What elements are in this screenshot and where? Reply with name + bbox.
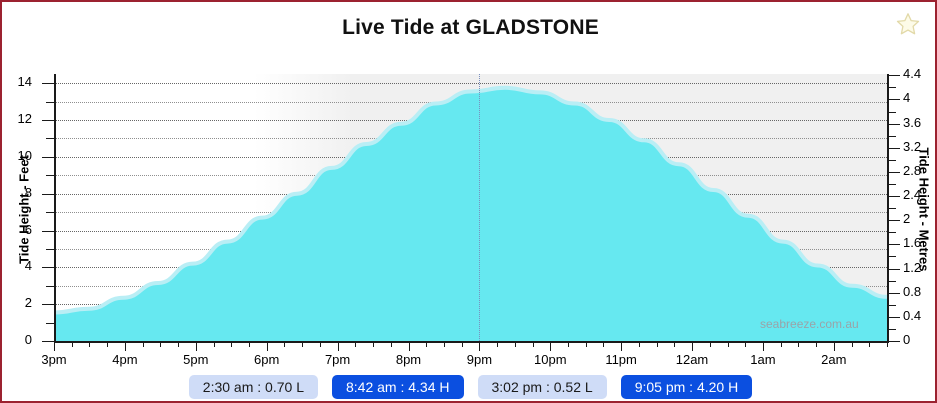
y-axis-left-line bbox=[54, 74, 56, 342]
x-axis-minor-tick bbox=[533, 342, 534, 347]
x-axis-minor-tick bbox=[745, 342, 746, 347]
y-axis-right-label: 3.6 bbox=[903, 115, 921, 130]
y-axis-right-minor-tick bbox=[888, 112, 896, 113]
x-axis-tick bbox=[125, 342, 126, 351]
tide-events-bar: 2:30 am : 0.70 L8:42 am : 4.34 H3:02 pm … bbox=[2, 373, 937, 401]
y-axis-right-tick bbox=[888, 269, 900, 270]
x-axis-minor-tick bbox=[426, 342, 427, 347]
page-title: Live Tide at GLADSTONE bbox=[2, 16, 937, 40]
y-axis-left-tick bbox=[46, 249, 54, 250]
x-axis-label: 9pm bbox=[467, 352, 492, 367]
y-axis-right-tick bbox=[888, 220, 900, 221]
x-axis-minor-tick bbox=[249, 342, 250, 347]
x-axis-label: 12am bbox=[676, 352, 709, 367]
x-axis-label: 8pm bbox=[396, 352, 421, 367]
y-axis-right-title: Tide Height - Metres bbox=[917, 140, 932, 280]
watermark: seabreeze.com.au bbox=[760, 317, 859, 331]
y-axis-right-minor-tick bbox=[888, 281, 896, 282]
y-axis-left-label: 12 bbox=[18, 111, 32, 126]
x-axis-label: 2am bbox=[821, 352, 846, 367]
x-axis-tick bbox=[196, 342, 197, 351]
x-axis-label: 11pm bbox=[605, 352, 637, 367]
y-axis-right-label: 1.6 bbox=[903, 235, 921, 250]
y-axis-right-label: 0.8 bbox=[903, 284, 921, 299]
x-axis-label: 4pm bbox=[112, 352, 137, 367]
y-axis-right-tick bbox=[888, 317, 900, 318]
x-axis-tick bbox=[479, 342, 480, 351]
x-axis-minor-tick bbox=[798, 342, 799, 347]
y-axis-right-minor-tick bbox=[888, 87, 896, 88]
y-axis-right-tick bbox=[888, 124, 900, 125]
x-axis-minor-tick bbox=[302, 342, 303, 347]
y-axis-right-minor-tick bbox=[888, 232, 896, 233]
y-axis-right-minor-tick bbox=[888, 208, 896, 209]
y-axis-left-tick bbox=[42, 267, 54, 268]
x-axis-minor-tick bbox=[781, 342, 782, 347]
x-axis-minor-tick bbox=[462, 342, 463, 347]
y-axis-right-minor-tick bbox=[888, 136, 896, 137]
y-axis-right-tick bbox=[888, 99, 900, 100]
x-axis-minor-tick bbox=[214, 342, 215, 347]
tide-event-low[interactable]: 3:02 pm : 0.52 L bbox=[478, 375, 607, 399]
plot-area bbox=[54, 74, 887, 341]
y-axis-right-label: 2.8 bbox=[903, 163, 921, 178]
x-axis-label: 5pm bbox=[183, 352, 208, 367]
y-axis-right-label: 2.4 bbox=[903, 187, 921, 202]
y-axis-right-tick bbox=[888, 196, 900, 197]
x-axis-minor-tick bbox=[657, 342, 658, 347]
x-axis-minor-tick bbox=[710, 342, 711, 347]
y-axis-left-tick bbox=[46, 138, 54, 139]
y-axis-left-label: 10 bbox=[18, 148, 32, 163]
y-axis-right-label: 2 bbox=[903, 211, 910, 226]
y-axis-right-minor-tick bbox=[888, 184, 896, 185]
y-axis-left-tick bbox=[42, 120, 54, 121]
x-axis-tick bbox=[267, 342, 268, 351]
star-icon[interactable] bbox=[895, 11, 921, 37]
y-axis-right-label: 3.2 bbox=[903, 139, 921, 154]
y-axis-left-label: 0 bbox=[25, 332, 32, 347]
y-axis-right-tick bbox=[888, 293, 900, 294]
x-axis-minor-tick bbox=[603, 342, 604, 347]
y-axis-right-tick bbox=[888, 341, 900, 342]
y-axis-right-label: 1.2 bbox=[903, 260, 921, 275]
y-axis-right-label: 4.4 bbox=[903, 66, 921, 81]
y-axis-left-label: 4 bbox=[25, 258, 32, 273]
y-axis-left-tick bbox=[42, 83, 54, 84]
y-axis-right-label: 0.4 bbox=[903, 308, 921, 323]
x-axis-minor-tick bbox=[639, 342, 640, 347]
y-axis-right-minor-tick bbox=[888, 256, 896, 257]
y-axis-left-label: 14 bbox=[18, 74, 32, 89]
x-axis-minor-tick bbox=[143, 342, 144, 347]
x-axis-tick bbox=[54, 342, 55, 351]
x-axis-label: 3pm bbox=[41, 352, 66, 367]
x-axis-tick bbox=[550, 342, 551, 351]
y-axis-right-tick bbox=[888, 148, 900, 149]
x-axis-minor-tick bbox=[373, 342, 374, 347]
y-axis-right-tick bbox=[888, 172, 900, 173]
y-axis-right-label: 4 bbox=[903, 90, 910, 105]
x-axis-tick bbox=[409, 342, 410, 351]
x-axis-minor-tick bbox=[887, 342, 888, 347]
y-axis-left-tick bbox=[42, 304, 54, 305]
tide-event-low[interactable]: 2:30 am : 0.70 L bbox=[189, 375, 318, 399]
current-time-marker bbox=[54, 74, 887, 341]
y-axis-left-label: 6 bbox=[25, 222, 32, 237]
y-axis-left-tick bbox=[42, 231, 54, 232]
x-axis-minor-tick bbox=[586, 342, 587, 347]
x-axis-label: 1am bbox=[750, 352, 775, 367]
x-axis-tick bbox=[338, 342, 339, 351]
x-axis-minor-tick bbox=[320, 342, 321, 347]
y-axis-right-tick bbox=[888, 75, 900, 76]
y-axis-left-tick bbox=[46, 175, 54, 176]
x-axis-minor-tick bbox=[444, 342, 445, 347]
x-axis-minor-tick bbox=[869, 342, 870, 347]
y-axis-right-minor-tick bbox=[888, 329, 896, 330]
tide-event-high[interactable]: 9:05 pm : 4.20 H bbox=[621, 375, 753, 399]
x-axis-tick bbox=[763, 342, 764, 351]
x-axis-minor-tick bbox=[355, 342, 356, 347]
x-axis-minor-tick bbox=[72, 342, 73, 347]
x-axis-tick bbox=[834, 342, 835, 351]
x-axis-minor-tick bbox=[497, 342, 498, 347]
x-axis-label: 7pm bbox=[325, 352, 350, 367]
y-axis-left-label: 8 bbox=[25, 185, 32, 200]
y-axis-right-tick bbox=[888, 244, 900, 245]
y-axis-left-tick bbox=[46, 286, 54, 287]
y-axis-right-label: 0 bbox=[903, 332, 910, 347]
y-axis-left-tick bbox=[42, 194, 54, 195]
x-axis-tick bbox=[621, 342, 622, 351]
x-axis-tick bbox=[692, 342, 693, 351]
x-axis-label: 10pm bbox=[534, 352, 567, 367]
y-axis-left-tick bbox=[42, 157, 54, 158]
x-axis-minor-tick bbox=[284, 342, 285, 347]
x-axis-label: 6pm bbox=[254, 352, 279, 367]
x-axis-minor-tick bbox=[728, 342, 729, 347]
x-axis-minor-tick bbox=[160, 342, 161, 347]
y-axis-left-tick bbox=[46, 323, 54, 324]
y-axis-left-tick bbox=[42, 341, 54, 342]
y-axis-right-minor-tick bbox=[888, 305, 896, 306]
now-line bbox=[479, 74, 480, 341]
tide-event-high[interactable]: 8:42 am : 4.34 H bbox=[332, 375, 464, 399]
x-axis-minor-tick bbox=[107, 342, 108, 347]
x-axis-minor-tick bbox=[816, 342, 817, 347]
x-axis-minor-tick bbox=[852, 342, 853, 347]
x-axis-minor-tick bbox=[515, 342, 516, 347]
y-axis-left-tick bbox=[46, 212, 54, 213]
y-axis-left-tick bbox=[46, 102, 54, 103]
x-axis-minor-tick bbox=[89, 342, 90, 347]
x-axis-minor-tick bbox=[178, 342, 179, 347]
x-axis-minor-tick bbox=[231, 342, 232, 347]
y-axis-right-minor-tick bbox=[888, 160, 896, 161]
x-axis-minor-tick bbox=[391, 342, 392, 347]
y-axis-left-label: 2 bbox=[25, 295, 32, 310]
tide-chart-page: Live Tide at GLADSTONE Tide Height - Fee… bbox=[0, 0, 937, 403]
x-axis-minor-tick bbox=[568, 342, 569, 347]
x-axis-minor-tick bbox=[674, 342, 675, 347]
